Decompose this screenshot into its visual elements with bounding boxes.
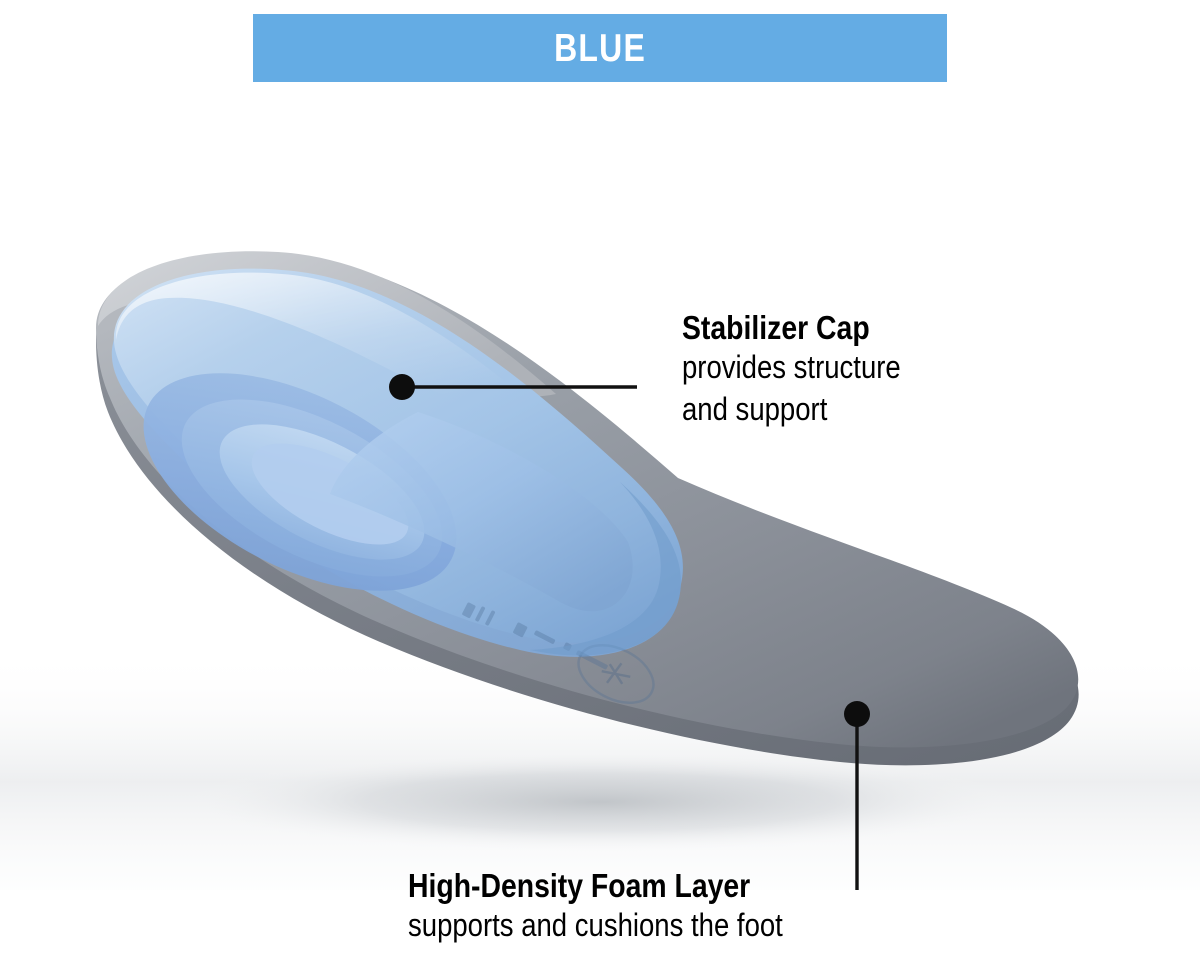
insole-illustration bbox=[0, 90, 1200, 890]
callout-foam-layer-title: High-Density Foam Layer bbox=[408, 868, 783, 904]
callout-stabilizer-cap-title: Stabilizer Cap bbox=[682, 310, 901, 346]
callout-foam-layer-description-line-1: supports and cushions the foot bbox=[408, 904, 783, 946]
infographic-page: BLUE bbox=[0, 0, 1200, 960]
callout-stabilizer-cap-description-line-2: and support bbox=[682, 388, 901, 430]
color-banner-label: BLUE bbox=[554, 29, 646, 68]
callout-high-density-foam-layer: High-Density Foam Layer supports and cus… bbox=[408, 868, 844, 946]
callout-stabilizer-cap-description-line-1: provides structure bbox=[682, 346, 901, 388]
product-shadow bbox=[170, 750, 1030, 854]
color-banner: BLUE bbox=[253, 14, 947, 82]
product-image bbox=[0, 90, 1200, 890]
callout-stabilizer-cap: Stabilizer Cap provides structure and su… bbox=[682, 310, 936, 430]
